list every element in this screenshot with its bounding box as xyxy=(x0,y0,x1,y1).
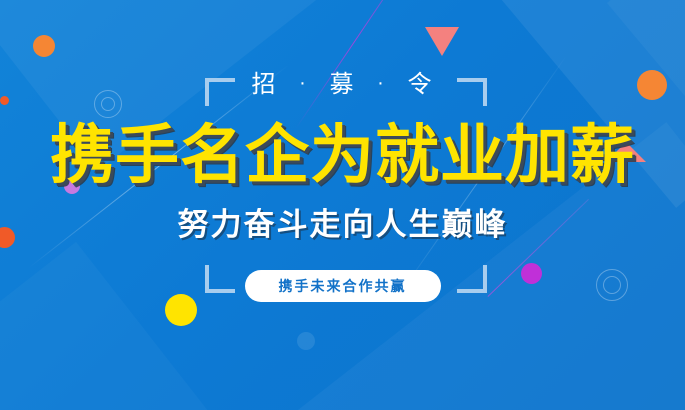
recruitment-banner: 招 · 募 · 令 携手名企为就业加薪 努力奋斗走向人生巅峰 携手未来合作共赢 xyxy=(0,0,685,410)
eyebrow-char-3: 令 xyxy=(408,71,434,98)
eyebrow-text: 招 · 募 · 令 xyxy=(0,70,685,101)
subheadline-text: 努力奋斗走向人生巅峰 xyxy=(0,205,685,245)
eyebrow-char-1: 招 xyxy=(251,71,277,98)
cta-button[interactable]: 携手未来合作共赢 xyxy=(245,270,441,302)
banner-content: 招 · 募 · 令 携手名企为就业加薪 努力奋斗走向人生巅峰 携手未来合作共赢 xyxy=(0,0,685,410)
headline-text: 携手名企为就业加薪 xyxy=(0,118,685,192)
eyebrow-char-2: 募 xyxy=(330,71,356,98)
cta-container: 携手未来合作共赢 xyxy=(0,270,685,302)
eyebrow-separator-1: · xyxy=(299,72,308,94)
eyebrow-separator-2: · xyxy=(377,72,386,94)
